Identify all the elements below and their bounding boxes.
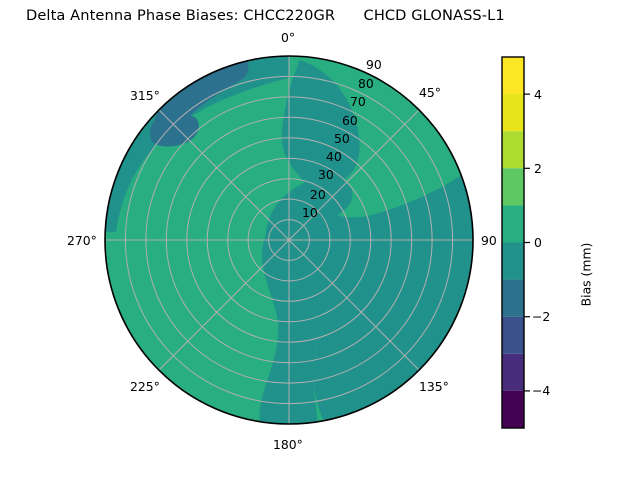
colorbar-axis-label: Bias (mm): [578, 243, 593, 307]
angular-tick-90: 90: [481, 233, 497, 248]
colorbar-tick-neg2: −2: [532, 309, 550, 324]
angular-tick-315: 315°: [130, 88, 160, 103]
radial-tick-20: 20: [310, 187, 326, 202]
colorbar-tick-0: 0: [534, 235, 542, 250]
radial-tick-80: 80: [358, 76, 374, 91]
colorbar-tick-4: 4: [534, 87, 542, 102]
angular-tick-270: 270°: [67, 233, 97, 248]
angular-tick-135: 135°: [419, 379, 449, 394]
radial-tick-10: 10: [302, 205, 318, 220]
radial-tick-90: 90: [366, 57, 382, 72]
angular-tick-225: 225°: [130, 379, 160, 394]
radial-tick-30: 30: [318, 167, 334, 182]
angular-tick-45: 45°: [419, 85, 441, 100]
colorbar: [498, 40, 558, 440]
radial-tick-50: 50: [334, 131, 350, 146]
angular-gridlines: [105, 56, 473, 424]
figure-canvas: Delta Antenna Phase Biases: CHCC220GR CH…: [0, 0, 640, 480]
colorbar-swatches: [502, 57, 524, 428]
colorbar-tick-neg4: −4: [532, 383, 550, 398]
radial-tick-60: 60: [342, 113, 358, 128]
radial-tick-70: 70: [350, 94, 366, 109]
colorbar-tick-2: 2: [534, 161, 542, 176]
angular-tick-0: 0°: [281, 30, 295, 45]
angular-tick-180: 180°: [273, 437, 303, 452]
colorbar-ticks: [524, 94, 530, 391]
radial-tick-40: 40: [326, 149, 342, 164]
